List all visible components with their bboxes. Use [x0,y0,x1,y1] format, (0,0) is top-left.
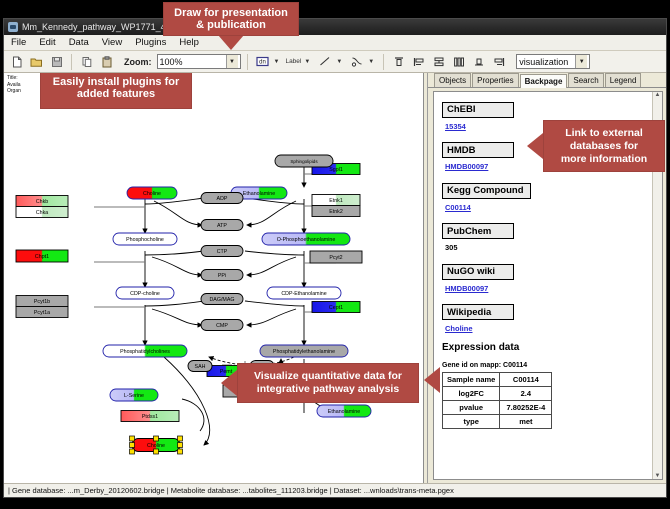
node-label: Ethanolamine [328,409,360,415]
application-window: Mm_Kennedy_pathway_WP1771_45176.gpml Fil… [3,18,667,498]
menu-item-data[interactable]: Data [67,37,91,48]
node-label: Etnk1 [329,198,343,204]
node-label: CTP [217,249,228,255]
metabolite-node-phosphatidylethanolamine[interactable]: Phosphatidylethanolamine [260,345,348,357]
gene-node-chka[interactable]: Chka [16,207,68,218]
node-label: Pcyt1b [34,299,50,305]
callout-link-line1: Link to external [552,127,656,140]
table-row: log2FC 2.4 [443,387,552,401]
gene-node-etnk1[interactable]: Etnk1 [312,195,360,206]
callout-plugins-line2: added features [49,88,183,100]
line-icon[interactable] [316,53,333,70]
node-label: Ethanolamine [243,191,275,197]
callout-plugins: Easily install plugins for added feature… [40,73,192,109]
link-kegg[interactable]: C00114 [445,203,644,212]
metabolite-node-phosphatidylcholines[interactable]: Phosphatidylcholines [103,345,187,357]
node-label: Cept1 [329,305,343,311]
metabolite-node-ethanolamine-bottom[interactable]: Ethanolamine [317,405,371,417]
pathway-edges [94,167,344,445]
node-label: Phosphatidylcholines [120,349,170,355]
node-label: O-Phosphoethanolamine [277,237,336,243]
section-header-kegg: Kegg Compound [442,183,531,199]
section-header-nugo: NuGO wiki [442,264,514,280]
link-wikipedia[interactable]: Choline [445,324,644,333]
node-label: SAH [195,364,206,370]
menu-item-view[interactable]: View [100,37,124,48]
svg-text:dn: dn [259,60,266,66]
gene-node-pcyt1b[interactable]: Pcyt1b [16,296,68,307]
selection-handle[interactable] [154,436,159,441]
value-pubchem: 305 [445,243,644,252]
gene-node-chpt1[interactable]: Chpt1 [16,250,68,262]
node-label: Sphingolipids [290,159,318,164]
copy-icon[interactable] [78,53,95,70]
gene-node-cept1[interactable]: Cept1 [312,302,360,313]
callout-visualize: Visualize quantitative data for integrat… [237,363,419,403]
row-value-type: met [500,415,552,429]
callout-visualize-arrow-right-edge [424,367,440,393]
paste-icon[interactable] [98,53,115,70]
metabolite-node-sah[interactable]: SAH [188,361,212,372]
selection-handle[interactable] [178,449,183,454]
metabolite-node-cdp-ethanolamine[interactable]: CDP-Ethanolamine [267,287,341,299]
chevron-down-icon[interactable]: ▼ [226,55,238,68]
callout-draw-line2: & publication [172,19,290,31]
gene-node-pcyt2[interactable]: Pcyt2 [310,251,362,263]
scroll-down-arrow-icon[interactable]: ▼ [655,473,661,479]
callout-draw: Draw for presentation & publication [163,2,299,36]
scroll-up-arrow-icon[interactable]: ▲ [655,92,661,98]
datanode-icon[interactable]: dn [254,53,271,70]
node-label: Phosphatidylethanolamine [273,349,335,355]
zoom-combobox[interactable]: 100% ▼ [157,54,241,69]
row-key-type: type [443,415,500,429]
node-label: L-Serine [124,393,144,399]
gene-node-pcyt1a[interactable]: Pcyt1a [16,307,68,318]
node-label: Etnk2 [329,209,343,215]
node-label: Choline [143,191,161,197]
callout-draw-arrow-down [218,35,244,50]
new-file-icon[interactable] [8,53,25,70]
expression-table: Sample name C00114 log2FC 2.4 pvalue 7.8… [442,372,552,429]
toolbar-separator-2 [247,54,248,70]
table-row: pvalue 7.80252E-4 [443,401,552,415]
interaction-icon[interactable] [348,53,365,70]
node-label: CDP-Ethanolamine [281,291,326,297]
table-row: type met [443,415,552,429]
app-icon [8,22,18,32]
tab-legend[interactable]: Legend [605,73,642,87]
table-row: Sample name C00114 [443,373,552,387]
align-right-icon[interactable] [490,53,507,70]
zoom-value: 100% [160,57,226,67]
node-label: Phosphocholine [126,237,164,243]
node-label: Chkb [36,199,48,205]
menu-item-file[interactable]: File [9,37,28,48]
gene-node-ptdss1[interactable]: Ptdss1 [121,411,179,422]
distribute-icon[interactable] [450,53,467,70]
node-label: ADP [217,196,228,202]
callout-link-line2: databases for [552,140,656,153]
open-folder-icon[interactable] [28,53,45,70]
metabolite-node-ctp[interactable]: CTP [201,246,243,257]
row-key-pvalue: pvalue [443,401,500,415]
datanode-dropdown-arrow[interactable]: ▼ [274,59,280,65]
label-tool[interactable]: Label [285,58,301,65]
selection-handle[interactable] [130,449,135,454]
interaction-dropdown-arrow[interactable]: ▼ [368,59,374,65]
metabolite-node-ppi[interactable]: PPi [201,270,243,281]
selection-handle[interactable] [130,443,135,448]
callout-visualize-line2: integrative pathway analysis [246,383,410,396]
callout-visualize-arrow-left [221,370,237,396]
node-label: PPi [218,273,226,279]
node-label: Sgpl1 [329,167,343,173]
metabolite-node-atp[interactable]: ATP [201,220,243,231]
gene-id-line: Gene id on mapp: C00114 [442,362,644,369]
node-label: Chka [36,210,48,216]
row-value-sample-name: C00114 [500,373,552,387]
section-header-hmdb: HMDB [442,142,514,158]
pathway-canvas[interactable]: Title: Availa Organ [4,73,424,483]
metabolite-node-l-serine-left[interactable]: L-Serine [110,389,158,401]
zoom-label: Zoom: [124,57,152,67]
metabolite-node-sphingolipids[interactable]: Sphingolipids [275,155,333,167]
row-value-pvalue: 7.80252E-4 [500,401,552,415]
menu-item-help[interactable]: Help [177,37,201,48]
selection-handle[interactable] [130,436,135,441]
node-label: Chpt1 [35,254,49,260]
callout-link: Link to external databases for more info… [543,120,665,172]
side-panel-tabs: Objects Properties Backpage Search Legen… [428,73,666,88]
pathway-graph: ChkbChkaSgpl1Etnk1Etnk2Chpt1Pcyt2Pcyt1bP… [4,73,424,483]
callout-link-line3: more information [552,153,656,166]
node-label: CMP [216,323,228,329]
link-nugo[interactable]: HMDB00097 [445,284,644,293]
row-key-log2fc: log2FC [443,387,500,401]
align-bottom-icon[interactable] [470,53,487,70]
metabolite-node-choline-top[interactable]: Choline [127,187,177,199]
node-label: Choline [147,443,165,449]
section-header-chebi: ChEBI [442,102,514,118]
menu-item-edit[interactable]: Edit [37,37,57,48]
menu-item-plugins[interactable]: Plugins [133,37,168,48]
callout-draw-line1: Draw for presentation [172,7,290,19]
metabolite-node-adp[interactable]: ADP [201,193,243,204]
section-header-wikipedia: Wikipedia [442,304,514,320]
visualization-value: visualization [519,57,575,67]
stack-vertical-icon[interactable] [430,53,447,70]
selection-handle[interactable] [154,449,159,454]
node-label: CDP-choline [130,291,160,297]
tab-properties[interactable]: Properties [472,73,518,87]
label-dropdown-arrow[interactable]: ▼ [304,59,310,65]
metabolite-node-dagmag[interactable]: DAG/MAG [201,294,243,305]
expression-data-title: Expression data [442,342,644,353]
metabolite-node-cmp[interactable]: CMP [201,320,243,331]
gene-node-chkb[interactable]: Chkb [16,196,68,207]
menu-bar: File Edit Data View Plugins Help [4,35,666,51]
node-label: Ptdss1 [142,414,158,420]
visualization-combobox[interactable]: visualization ▼ [516,54,590,69]
status-bar: | Gene database: ...m_Derby_20120602.bri… [4,483,666,497]
callout-link-arrow-left [527,133,543,159]
selection-handle[interactable] [178,443,183,448]
align-left-icon[interactable] [410,53,427,70]
node-label: Pcyt2 [329,255,342,261]
toolbar: Zoom: 100% ▼ dn ▼ Label ▼ ▼ ▼ [4,51,666,73]
status-text: | Gene database: ...m_Derby_20120602.bri… [8,486,454,495]
node-label: ATP [217,223,227,229]
tab-search[interactable]: Search [568,73,603,87]
node-label: Pcyt1a [34,310,50,316]
tab-objects[interactable]: Objects [434,73,471,87]
row-key-sample-name: Sample name [443,373,500,387]
gene-node-etnk2[interactable]: Etnk2 [312,206,360,217]
save-icon[interactable] [48,53,65,70]
metabolite-node-cdp-choline[interactable]: CDP-choline [116,287,174,299]
selection-handle[interactable] [178,436,183,441]
row-value-log2fc: 2.4 [500,387,552,401]
align-top-icon[interactable] [390,53,407,70]
visualization-chevron-down-icon[interactable]: ▼ [575,55,587,68]
metabolite-node-o-phosphoethanolamine[interactable]: O-Phosphoethanolamine [262,233,350,245]
toolbar-separator-3 [383,54,384,70]
callout-visualize-line1: Visualize quantitative data for [246,370,410,383]
callout-plugins-line1: Easily install plugins for [49,76,183,88]
section-header-pubchem: PubChem [442,223,514,239]
toolbar-separator [71,54,72,70]
metabolite-node-choline-selected[interactable]: Choline [130,436,183,454]
metabolite-node-phosphocholine[interactable]: Phosphocholine [113,233,177,245]
node-label: DAG/MAG [209,297,234,303]
title-bar: Mm_Kennedy_pathway_WP1771_45176.gpml [4,19,666,35]
line-dropdown-arrow[interactable]: ▼ [336,59,342,65]
tab-backpage[interactable]: Backpage [520,74,568,88]
